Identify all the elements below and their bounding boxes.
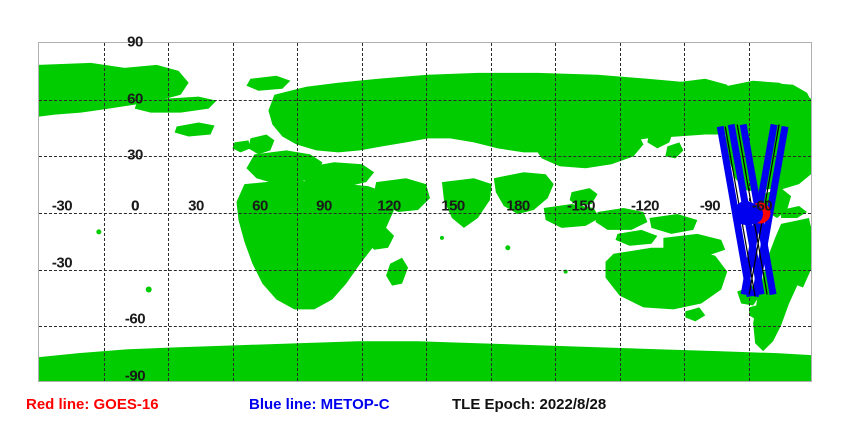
- lon-tick--30: -30: [52, 199, 72, 214]
- lon-tick-150: 150: [441, 199, 465, 214]
- legend-bar: Red line: GOES-16 Blue line: METOP-C TLE…: [0, 393, 850, 425]
- land-polygons: [39, 63, 811, 321]
- lat-tick-30: 30: [127, 148, 143, 163]
- legend-blue-line: Blue line: METOP-C: [249, 393, 390, 417]
- landmass-layer: [39, 43, 811, 381]
- lon-tick-90: 90: [316, 199, 332, 214]
- lat-tick--90: -90: [125, 369, 145, 384]
- lon-tick--90: -90: [700, 199, 720, 214]
- lon-tick-180: 180: [506, 199, 530, 214]
- lat-tick-60: 60: [127, 91, 143, 106]
- legend-red-line: Red line: GOES-16: [26, 393, 159, 417]
- lat-tick--30: -30: [52, 255, 72, 270]
- lon-tick--150: -150: [567, 199, 595, 214]
- legend-tle-epoch: TLE Epoch: 2022/8/28: [452, 393, 606, 417]
- lon-tick-0: 0: [131, 199, 139, 214]
- lon-tick-120: 120: [377, 199, 401, 214]
- antarctica-polygon: [39, 341, 811, 381]
- world-map-panel: [38, 42, 812, 382]
- lon-tick-60: 60: [252, 199, 268, 214]
- lat-tick-90: 90: [127, 35, 143, 50]
- lon-tick-30: 30: [188, 199, 204, 214]
- lon-tick--60: -60: [752, 199, 772, 214]
- lon-tick--120: -120: [631, 199, 659, 214]
- lat-tick--60: -60: [125, 312, 145, 327]
